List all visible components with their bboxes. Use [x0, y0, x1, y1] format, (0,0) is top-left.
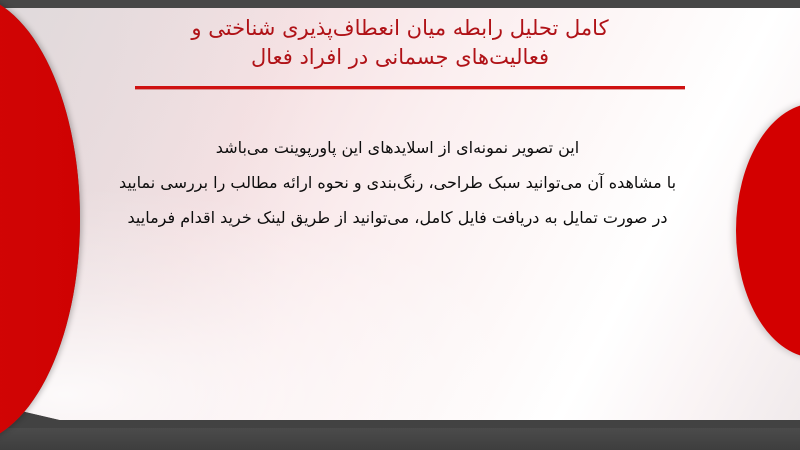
title-line-2: فعالیت‌های جسمانی در افراد فعال	[100, 43, 700, 72]
body-line-3: در صورت تمایل به دریافت فایل کامل، می‌تو…	[30, 200, 765, 235]
title-underline-rule	[135, 86, 685, 89]
title-line-1: کامل تحلیل رابطه میان انعطاف‌پذیری شناخت…	[100, 14, 700, 43]
slide-title: کامل تحلیل رابطه میان انعطاف‌پذیری شناخت…	[100, 14, 700, 72]
slide-body-text: این تصویر نمونه‌ای از اسلایدهای این پاور…	[30, 130, 765, 235]
presentation-slide: کامل تحلیل رابطه میان انعطاف‌پذیری شناخت…	[0, 0, 800, 450]
bottom-frame-bar	[0, 428, 800, 450]
slide-canvas: کامل تحلیل رابطه میان انعطاف‌پذیری شناخت…	[0, 8, 800, 428]
body-line-1: این تصویر نمونه‌ای از اسلایدهای این پاور…	[30, 130, 765, 165]
body-line-2: با مشاهده آن می‌توانید سبک طراحی، رنگ‌بن…	[30, 165, 765, 200]
top-frame-bar	[0, 0, 800, 8]
